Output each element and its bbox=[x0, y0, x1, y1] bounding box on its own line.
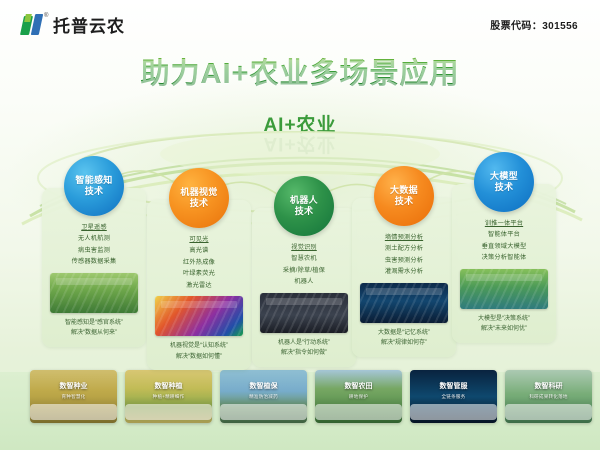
scenario-pill bbox=[125, 404, 212, 420]
field-sensing-photo bbox=[50, 273, 138, 313]
scenario-pill bbox=[220, 404, 307, 420]
list-item: 叶绿素荧光 bbox=[152, 268, 246, 279]
bubble-label-line2: 技术 bbox=[190, 198, 209, 209]
list-item: 机器人 bbox=[257, 276, 351, 287]
scenario-sublabel: 精准防治减药 bbox=[220, 394, 307, 400]
caption-line2: 解决“数据从何来” bbox=[47, 328, 141, 339]
scenario-pill bbox=[505, 404, 592, 420]
list-item: 智能体平台 bbox=[457, 229, 551, 240]
facts-list-smart-sensing: 卫星遥感 无人机航测 病虫害监测 传感器数据采集 bbox=[47, 222, 141, 268]
bubble-large-model[interactable]: 大模型 技术 bbox=[474, 152, 534, 212]
scenario-pill bbox=[30, 404, 117, 420]
scenario-sublabel: 耕地保护 bbox=[315, 394, 402, 400]
list-item: 卫星遥感 bbox=[47, 222, 141, 233]
bubble-label-line1: 机器人 bbox=[290, 195, 318, 206]
bubble-machine-vision[interactable]: 机器视觉 技术 bbox=[169, 168, 229, 228]
bubble-label-line2: 技术 bbox=[395, 196, 414, 207]
list-item: 病虫害监测 bbox=[47, 245, 141, 256]
caption-line2: 解决“数据如何懂” bbox=[152, 352, 246, 363]
list-item: 激光雷达 bbox=[152, 280, 246, 291]
list-item: 无人机航测 bbox=[47, 233, 141, 244]
caption-line1: 大数据是“记忆系统” bbox=[357, 328, 451, 339]
list-item: 训推一体平台 bbox=[457, 218, 551, 229]
header: ® 托普云农 股票代码：301556 bbox=[0, 0, 600, 46]
list-item: 红外热成像 bbox=[152, 257, 246, 268]
bubble-robotics[interactable]: 机器人 技术 bbox=[274, 176, 334, 236]
scenario-sublabel: 育种智慧化 bbox=[30, 394, 117, 400]
bubble-smart-sensing[interactable]: 智能感知 技术 bbox=[64, 156, 124, 216]
scenario-label: 数智农田 bbox=[315, 381, 402, 391]
page-title: 助力AI+农业多场景应用 bbox=[0, 50, 600, 92]
list-item: 墒情预测分析 bbox=[357, 232, 451, 243]
scenario-label: 数智植保 bbox=[220, 381, 307, 391]
list-item: 视觉识别 bbox=[257, 242, 351, 253]
caption-line1: 机器人是“行动系统” bbox=[257, 338, 351, 349]
list-item: 智慧农机 bbox=[257, 253, 351, 264]
caption-big-data: 大数据是“记忆系统” 解决“规律如何存” bbox=[357, 328, 451, 349]
poster-canvas: ® 托普云农 股票代码：301556 助力AI+农业多场景应用 AI+农业 AI… bbox=[0, 0, 600, 450]
column-big-data[interactable]: 大数据 技术 墒情预测分析 测土配方分析 虫害预测分析 灌溉需水分析 大数据是“… bbox=[352, 166, 456, 357]
caption-large-model: 大模型是“决策系统” 解决“未来如何优” bbox=[457, 314, 551, 335]
list-item: 采摘/除草/植保 bbox=[257, 265, 351, 276]
technology-columns: 智能感知 技术 卫星遥感 无人机航测 病虫害监测 传感器数据采集 智能感知是“感… bbox=[0, 150, 600, 375]
scenario-filmstrip: 数智种业 育种智慧化 数智种植 种植+精耕细作 数智植保 精准防治减药 bbox=[0, 372, 600, 450]
data-dashboard-photo bbox=[360, 283, 448, 323]
topcloud-logo-icon: ® bbox=[22, 14, 48, 36]
facts-list-robotics: 视觉识别 智慧农机 采摘/除草/植保 机器人 bbox=[257, 242, 351, 288]
column-large-model[interactable]: 大模型 技术 训推一体平台 智能体平台 垂直领域大模型 决策分析智能体 大模型是… bbox=[452, 152, 556, 343]
bubble-label-line2: 技术 bbox=[85, 186, 104, 197]
caption-line1: 智能感知是“感官系统” bbox=[47, 318, 141, 329]
caption-line1: 大模型是“决策系统” bbox=[457, 314, 551, 325]
column-robotics[interactable]: 机器人 技术 视觉识别 智慧农机 采摘/除草/植保 机器人 机器人是“行动系统”… bbox=[252, 176, 356, 367]
stock-code: 股票代码：301556 bbox=[490, 17, 578, 32]
scenario-pill bbox=[410, 404, 497, 420]
scenario-label: 数智科研 bbox=[505, 381, 592, 391]
bubble-label-line1: 智能感知 bbox=[75, 175, 112, 186]
spectral-imaging-photo bbox=[155, 296, 243, 336]
list-item: 传感器数据采集 bbox=[47, 256, 141, 267]
column-smart-sensing[interactable]: 智能感知 技术 卫星遥感 无人机航测 病虫害监测 传感器数据采集 智能感知是“感… bbox=[42, 156, 146, 347]
brand-logo: ® 托普云农 bbox=[22, 12, 125, 37]
scenario-label: 数智种业 bbox=[30, 381, 117, 391]
scenario-sublabel: 全链条服务 bbox=[410, 394, 497, 400]
registered-mark-icon: ® bbox=[44, 13, 48, 19]
bubble-label-line1: 机器视觉 bbox=[180, 187, 217, 198]
caption-robotics: 机器人是“行动系统” 解决“指令如何做” bbox=[257, 338, 351, 359]
bubble-label-line1: 大模型 bbox=[490, 171, 518, 182]
caption-line2: 解决“规律如何存” bbox=[357, 338, 451, 349]
caption-smart-sensing: 智能感知是“感官系统” 解决“数据从何来” bbox=[47, 318, 141, 339]
scenario-label: 数智管服 bbox=[410, 381, 497, 391]
caption-line2: 解决“指令如何做” bbox=[257, 348, 351, 359]
column-machine-vision[interactable]: 机器视觉 技术 可见光 高光谱 红外热成像 叶绿素荧光 激光雷达 机器视觉是“认… bbox=[147, 168, 251, 370]
bubble-big-data[interactable]: 大数据 技术 bbox=[374, 166, 434, 226]
list-item: 可见光 bbox=[152, 234, 246, 245]
scenario-pill bbox=[315, 404, 402, 420]
agri-robot-photo bbox=[260, 293, 348, 333]
list-item: 测土配方分析 bbox=[357, 243, 451, 254]
list-item: 垂直领域大模型 bbox=[457, 241, 551, 252]
caption-line2: 解决“未来如何优” bbox=[457, 324, 551, 335]
brand-name: 托普云农 bbox=[53, 12, 125, 37]
bubble-label-line2: 技术 bbox=[295, 206, 314, 217]
facts-list-machine-vision: 可见光 高光谱 红外热成像 叶绿素荧光 激光雷达 bbox=[152, 234, 246, 291]
scenario-sublabel: 种植+精耕细作 bbox=[125, 394, 212, 400]
caption-machine-vision: 机器视觉是“认知系统” 解决“数据如何懂” bbox=[152, 341, 246, 362]
facts-list-large-model: 训推一体平台 智能体平台 垂直领域大模型 决策分析智能体 bbox=[457, 218, 551, 264]
caption-line1: 机器视觉是“认知系统” bbox=[152, 341, 246, 352]
scenario-label: 数智种植 bbox=[125, 381, 212, 391]
list-item: 灌溉需水分析 bbox=[357, 266, 451, 277]
list-item: 决策分析智能体 bbox=[457, 252, 551, 263]
list-item: 高光谱 bbox=[152, 245, 246, 256]
bubble-label-line1: 大数据 bbox=[390, 185, 418, 196]
ai-model-photo bbox=[460, 269, 548, 309]
scenario-sublabel: 科研成果转化落地 bbox=[505, 394, 592, 400]
list-item: 虫害预测分析 bbox=[357, 255, 451, 266]
bubble-label-line2: 技术 bbox=[495, 182, 514, 193]
facts-list-big-data: 墒情预测分析 测土配方分析 虫害预测分析 灌溉需水分析 bbox=[357, 232, 451, 278]
